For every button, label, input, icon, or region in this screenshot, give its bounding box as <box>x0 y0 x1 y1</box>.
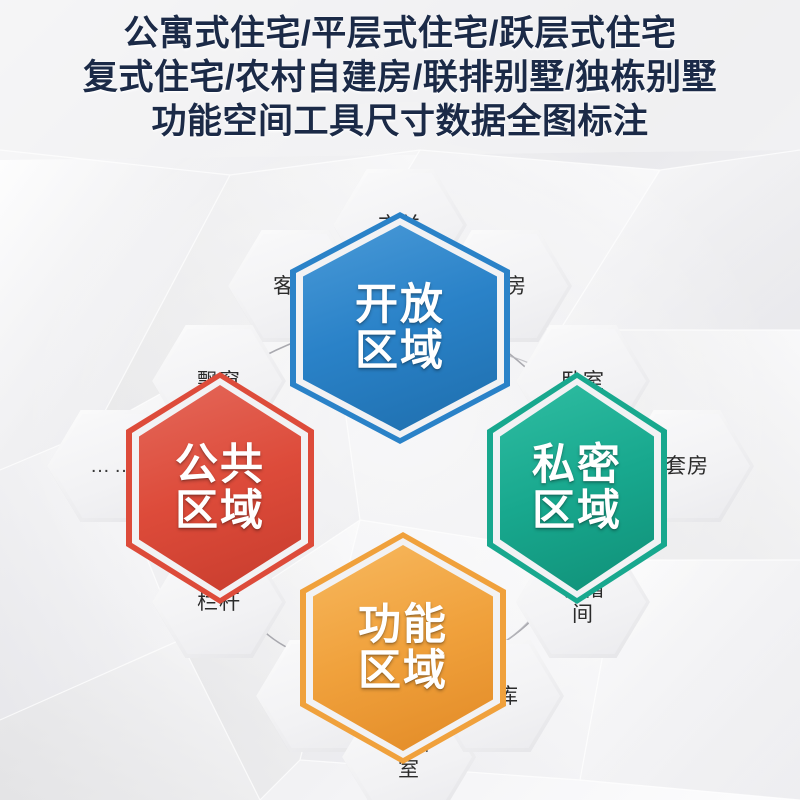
satellite-label: 套房 <box>665 454 709 479</box>
node-label: 私密 区域 <box>532 442 622 534</box>
node-label: 开放 区域 <box>355 282 445 374</box>
node-label: 公共 区域 <box>175 442 265 534</box>
node-open-area[interactable]: 开放 区域 <box>290 212 510 444</box>
title-line-1: 公寓式住宅/平层式住宅/跃层式住宅 <box>0 12 800 56</box>
node-public-area[interactable]: 公共 区域 <box>126 372 314 604</box>
hexagon-cluster-diagram: 玄关 客厅 厨房 开放 区域 卧室 <box>0 150 800 800</box>
page-title: 公寓式住宅/平层式住宅/跃层式住宅 复式住宅/农村自建房/联排别墅/独栋别墅 功… <box>0 12 800 144</box>
infographic-page: 公寓式住宅/平层式住宅/跃层式住宅 复式住宅/农村自建房/联排别墅/独栋别墅 功… <box>0 0 800 800</box>
node-label: 功能 区域 <box>358 602 448 694</box>
node-functional-area[interactable]: 功能 区域 <box>300 532 506 764</box>
title-line-2: 复式住宅/农村自建房/联排别墅/独栋别墅 <box>0 56 800 100</box>
title-line-3: 功能空间工具尺寸数据全图标注 <box>0 100 800 144</box>
node-private-area[interactable]: 私密 区域 <box>487 372 667 604</box>
